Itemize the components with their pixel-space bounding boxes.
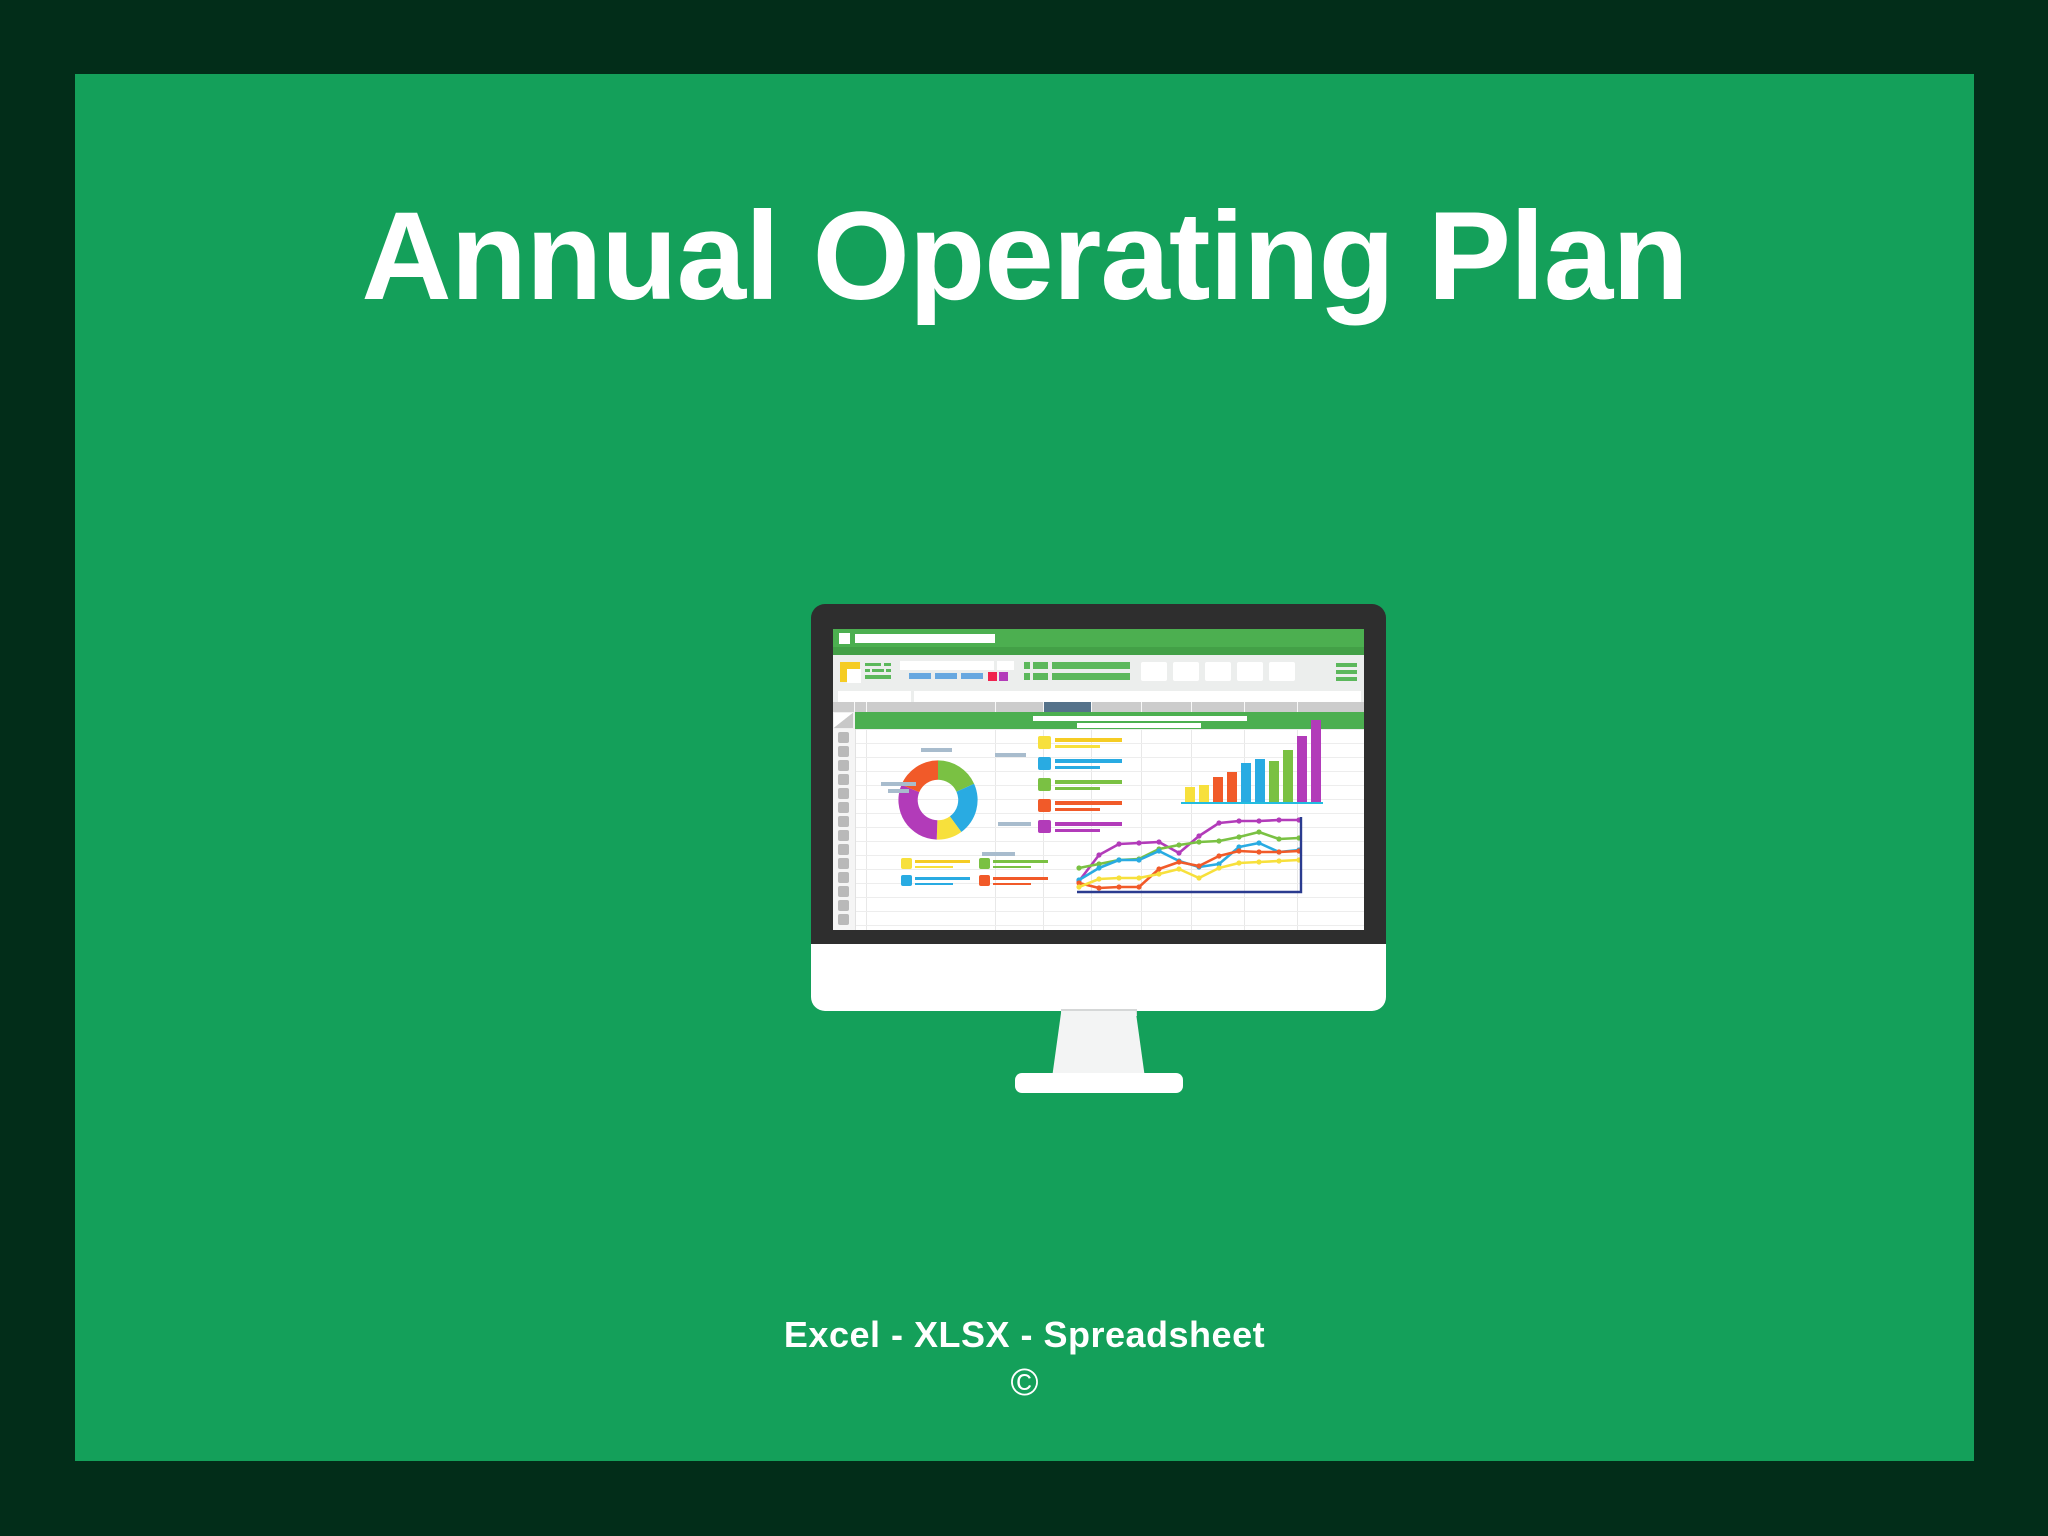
formula-input[interactable]: [914, 691, 1361, 702]
row-header-cell[interactable]: [838, 732, 849, 743]
legend-label-bar-2: [1055, 766, 1100, 769]
align-bar-4[interactable]: [872, 669, 884, 672]
font-name-box[interactable]: [900, 661, 994, 670]
styles-swatch-4[interactable]: [1033, 673, 1048, 680]
bar: [1311, 720, 1321, 802]
bar-chart-axis: [1181, 802, 1323, 804]
file-format-caption: Excel - XLSX - Spreadsheet: [75, 1314, 1974, 1356]
bar: [1241, 763, 1251, 802]
spreadsheet-screen: [833, 629, 1364, 930]
small-legend-swatch: [901, 875, 912, 886]
legend-swatch: [1038, 757, 1051, 770]
page-title: Annual Operating Plan: [75, 194, 1974, 319]
align-bar-3[interactable]: [865, 669, 870, 672]
ribbon-command-5[interactable]: [1269, 662, 1295, 681]
monitor-chin: [811, 944, 1386, 1011]
bar: [1255, 759, 1265, 802]
legend-label-bar: [1055, 801, 1122, 805]
styles-bar-2[interactable]: [1052, 673, 1130, 680]
small-legend-bar: [915, 860, 970, 863]
small-legend-bar: [993, 860, 1048, 863]
align-bar-1[interactable]: [865, 663, 881, 666]
styles-swatch-3[interactable]: [1024, 673, 1030, 680]
paste-icon-sheet: [847, 669, 861, 683]
small-legend-bar: [993, 877, 1048, 880]
bold-button[interactable]: [909, 673, 931, 679]
bar: [1199, 785, 1209, 802]
italic-button[interactable]: [935, 673, 957, 679]
styles-swatch-1[interactable]: [1024, 662, 1030, 669]
small-legend-bar-2: [915, 883, 953, 885]
caption-block: Excel - XLSX - Spreadsheet ©: [75, 1314, 1974, 1402]
row-header-cell[interactable]: [838, 816, 849, 827]
bar: [1185, 787, 1195, 802]
copyright-symbol: ©: [75, 1364, 1974, 1402]
small-legend-swatch: [979, 858, 990, 869]
hamburger-menu-icon-3[interactable]: [1336, 677, 1357, 681]
slide-background: Annual Operating Plan: [0, 0, 2048, 1536]
select-all-triangle-icon: [834, 713, 853, 728]
donut-callout-1: [921, 748, 952, 752]
donut-callout-3: [881, 782, 916, 786]
legend-label-bar: [1055, 780, 1122, 784]
donut-callout-4: [998, 822, 1031, 826]
legend-swatch: [1038, 778, 1051, 791]
legend-label-bar: [1055, 738, 1122, 742]
ribbon-command-1[interactable]: [1141, 662, 1167, 681]
column-header-h[interactable]: [1245, 702, 1297, 712]
bar: [1297, 736, 1307, 802]
row-header-cell[interactable]: [838, 900, 849, 911]
line-chart: [1073, 807, 1325, 897]
fill-color-button[interactable]: [999, 672, 1008, 681]
row-header-cell[interactable]: [838, 802, 849, 813]
app-titlebar: [833, 629, 1364, 647]
align-bar-2[interactable]: [884, 663, 891, 666]
ribbon-command-2[interactable]: [1173, 662, 1199, 681]
align-bar-5[interactable]: [886, 669, 891, 672]
monitor-base: [1015, 1073, 1183, 1093]
monitor-neck: [1052, 1011, 1145, 1078]
bar: [1227, 772, 1237, 802]
donut-callout-2: [995, 753, 1026, 757]
select-all-corner[interactable]: [833, 712, 855, 729]
small-legend-bar-2: [993, 866, 1031, 868]
row-header-cell[interactable]: [838, 844, 849, 855]
row-header-cell[interactable]: [838, 872, 849, 883]
spreadsheet-grid[interactable]: [833, 712, 1364, 930]
row-header-cell[interactable]: [838, 760, 849, 771]
ribbon-command-4[interactable]: [1237, 662, 1263, 681]
column-header-corner[interactable]: [833, 702, 854, 712]
column-header-a[interactable]: [855, 702, 866, 712]
app-title-field: [855, 634, 995, 643]
app-tabstrip[interactable]: [833, 647, 1364, 655]
legend-label-bar-2: [1055, 787, 1100, 790]
name-box[interactable]: [838, 691, 911, 702]
small-legend-bar-2: [915, 866, 953, 868]
font-color-button[interactable]: [988, 672, 997, 681]
legend-label-bar-2: [1055, 745, 1100, 748]
row-header-cell[interactable]: [838, 858, 849, 869]
bar: [1269, 761, 1279, 802]
column-header-i[interactable]: [1298, 702, 1364, 712]
styles-swatch-2[interactable]: [1033, 662, 1048, 669]
column-header-g[interactable]: [1192, 702, 1244, 712]
hamburger-menu-icon-2[interactable]: [1336, 670, 1357, 674]
font-size-box[interactable]: [997, 661, 1014, 670]
column-header-c[interactable]: [996, 702, 1043, 712]
row-header-cell[interactable]: [838, 830, 849, 841]
donut-callout-3b: [888, 789, 909, 793]
column-header-d-selected[interactable]: [1044, 702, 1091, 712]
column-header-b[interactable]: [867, 702, 995, 712]
monitor-illustration: [811, 604, 1386, 1094]
row-header-cell[interactable]: [838, 886, 849, 897]
ribbon-toolbar[interactable]: [833, 655, 1364, 690]
bar-chart: [1181, 720, 1323, 802]
underline-button[interactable]: [961, 673, 983, 679]
column-header-f[interactable]: [1142, 702, 1191, 712]
formula-bar-row: [833, 690, 1364, 702]
bar: [1213, 777, 1223, 802]
row-header-cell[interactable]: [838, 788, 849, 799]
row-header-cell[interactable]: [838, 746, 849, 757]
legend-swatch: [1038, 820, 1051, 833]
legend-swatch: [1038, 799, 1051, 812]
donut-chart: [893, 755, 983, 845]
styles-bar-1[interactable]: [1052, 662, 1130, 669]
small-legend-swatch: [901, 858, 912, 869]
small-legend-bar-2: [993, 883, 1031, 885]
small-legend-swatch: [979, 875, 990, 886]
align-bar-6[interactable]: [865, 675, 891, 679]
column-header-e[interactable]: [1092, 702, 1141, 712]
slide-panel: Annual Operating Plan: [75, 74, 1974, 1461]
row-header-cell[interactable]: [838, 914, 849, 925]
app-logo-icon: [839, 633, 850, 644]
hamburger-menu-icon[interactable]: [1336, 663, 1357, 667]
small-legend-bar: [915, 877, 970, 880]
column-header-row: [833, 702, 1364, 712]
legend-swatch: [1038, 736, 1051, 749]
bar: [1283, 750, 1293, 802]
row-header-column[interactable]: [833, 712, 856, 930]
ribbon-command-3[interactable]: [1205, 662, 1231, 681]
row-header-cell[interactable]: [838, 774, 849, 785]
legend-label-bar: [1055, 759, 1122, 763]
donut-callout-5: [982, 852, 1015, 856]
